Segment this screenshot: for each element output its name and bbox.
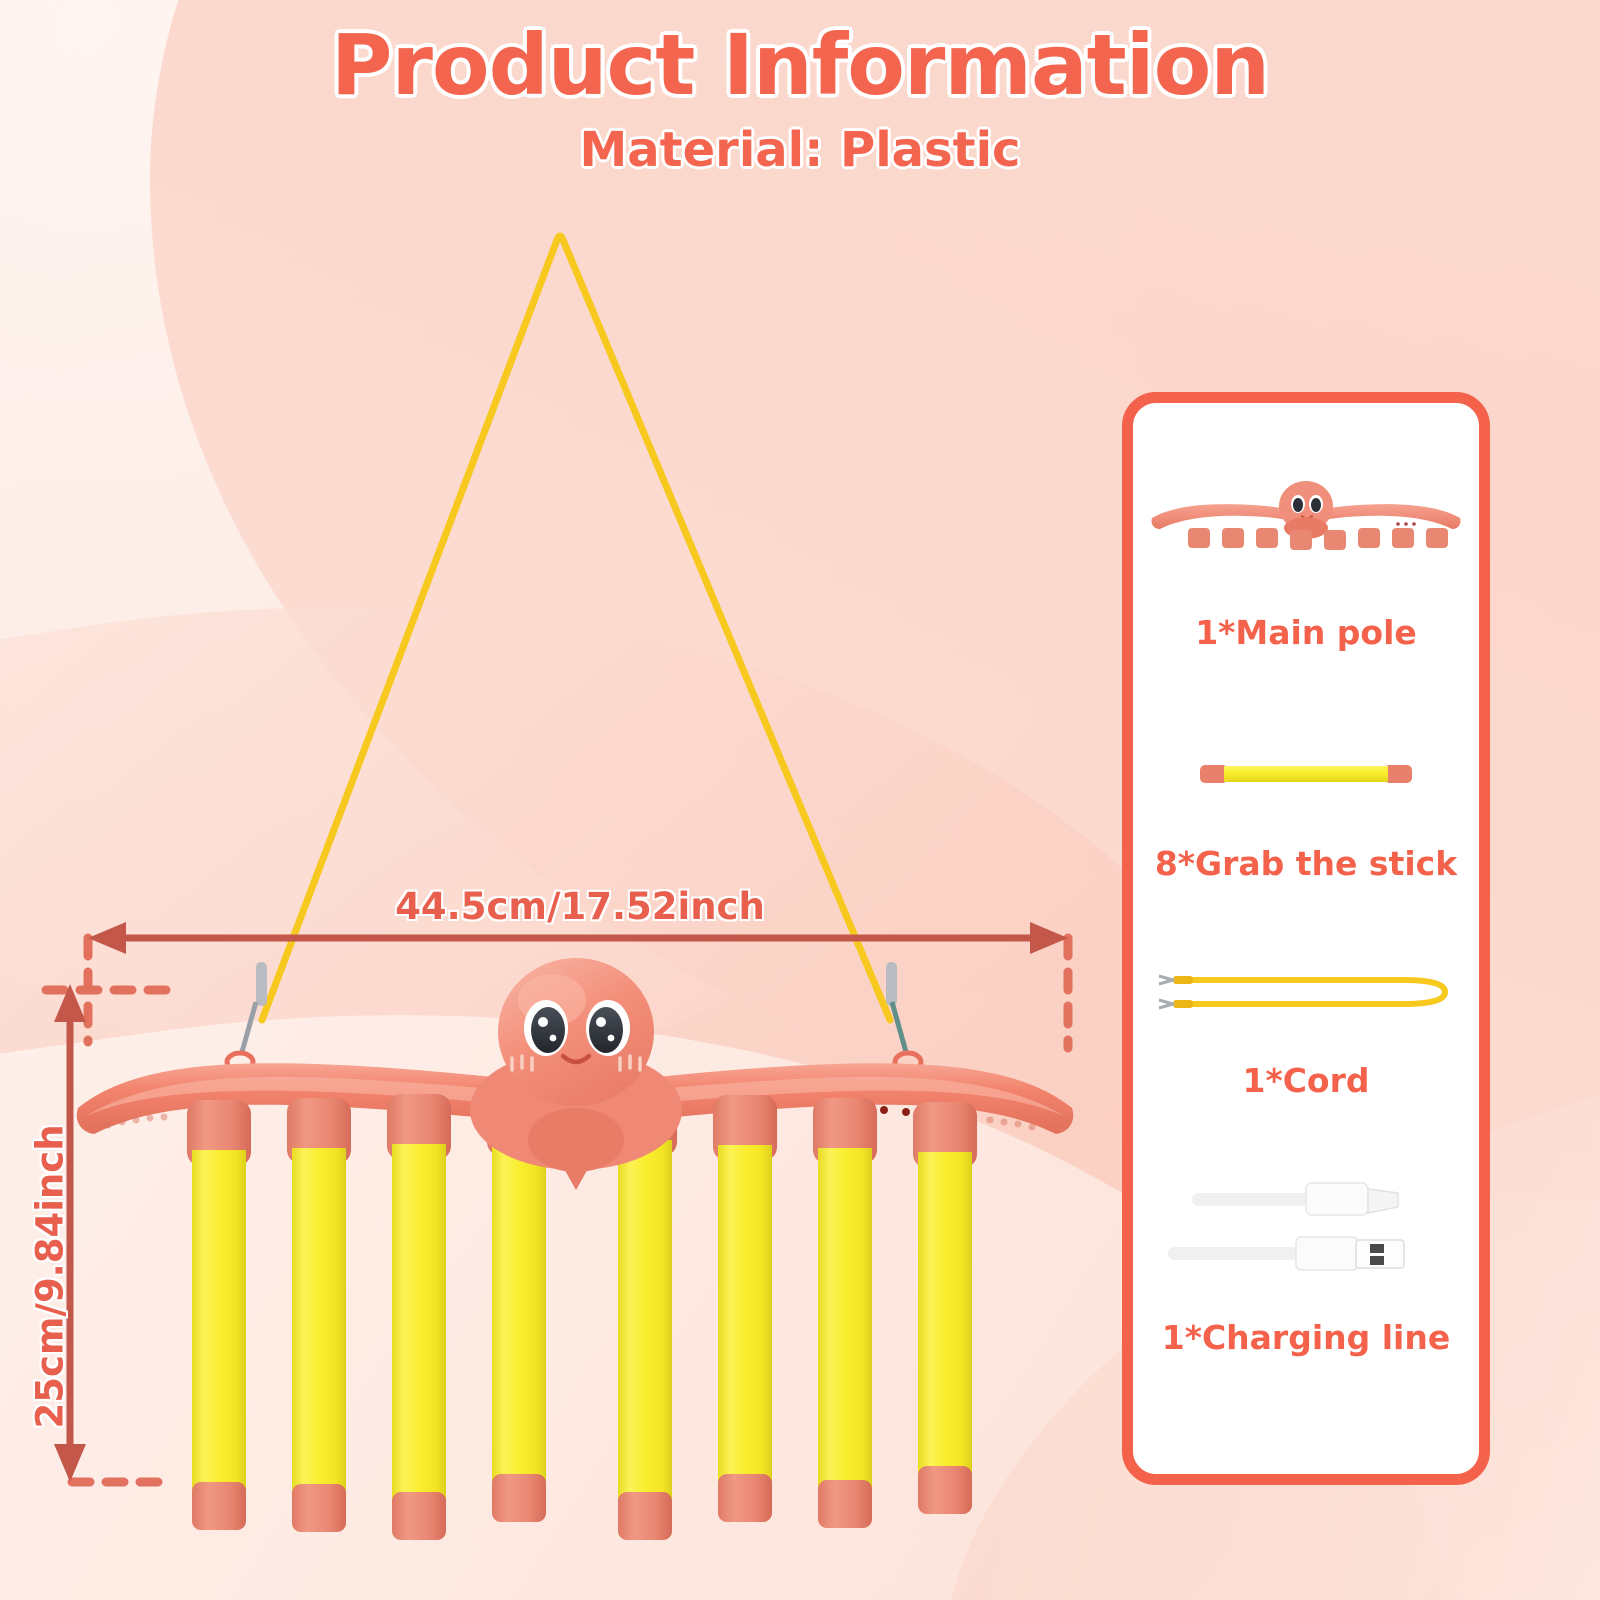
width-dimension-label: 44.5cm/17.52inch bbox=[300, 885, 860, 928]
product-information-page: Product Information Material: Plastic bbox=[0, 0, 1600, 1600]
parts-list-panel: 1*Main pole 8*Grab the stick bbox=[1122, 392, 1490, 1485]
part-item-grab-stick: 8*Grab the stick bbox=[1133, 652, 1479, 883]
part-item-main-pole: 1*Main pole bbox=[1133, 403, 1479, 652]
part-item-charging-line: 1*Charging line bbox=[1133, 1100, 1479, 1357]
part-label-grab-stick: 8*Grab the stick bbox=[1155, 844, 1457, 883]
octopus-eye-left bbox=[531, 1007, 565, 1053]
grab-stick-icon bbox=[1196, 744, 1416, 804]
cord-clip-left bbox=[227, 962, 267, 1071]
page-subtitle: Material: Plastic bbox=[0, 122, 1600, 178]
part-label-cord: 1*Cord bbox=[1242, 1061, 1369, 1100]
height-dimension-label: 25cm/9.84inch bbox=[29, 1117, 72, 1437]
cord-icon bbox=[1153, 957, 1459, 1027]
micro-usb-connector bbox=[1192, 1183, 1398, 1215]
cord-clip-right bbox=[886, 962, 921, 1071]
page-title: Product Information bbox=[0, 16, 1600, 114]
part-label-main-pole: 1*Main pole bbox=[1195, 613, 1417, 652]
part-label-charging-line: 1*Charging line bbox=[1162, 1318, 1451, 1357]
part-item-cord: 1*Cord bbox=[1133, 883, 1479, 1100]
octopus-toy-illustration bbox=[60, 940, 1090, 1560]
usb-charging-cable-icon bbox=[1156, 1162, 1456, 1292]
octopus-eye-right bbox=[589, 1007, 623, 1053]
usb-a-connector bbox=[1168, 1237, 1404, 1270]
octopus-head-dome bbox=[498, 958, 654, 1106]
octopus-main-pole-icon bbox=[1146, 455, 1466, 585]
